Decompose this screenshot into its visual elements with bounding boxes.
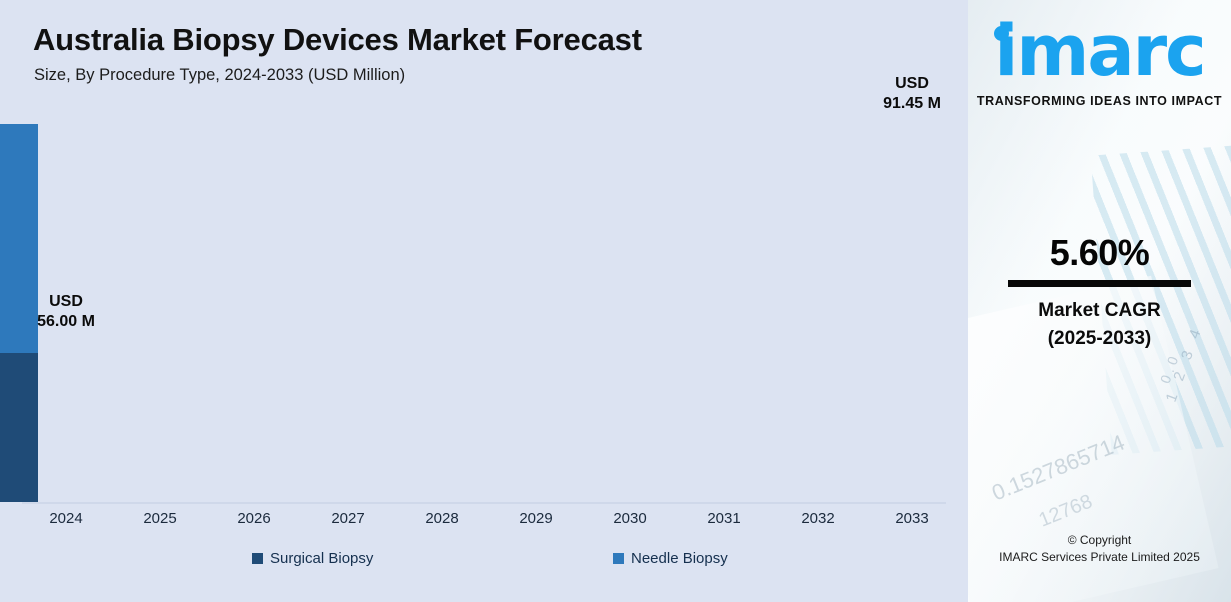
x-tick-2028: 2028 xyxy=(395,510,489,527)
bar-value-label-amount-2033: 91.45 M xyxy=(852,94,972,114)
chart-panel: Australia Biopsy Devices Market Forecast… xyxy=(0,0,968,602)
x-tick-2026: 2026 xyxy=(207,510,301,527)
brand-panel: 0.1527865714 12768 1 2 3 4 0.0 imarc TRA… xyxy=(968,0,1231,602)
cagr-divider xyxy=(1008,280,1191,287)
x-tick-2024: 2024 xyxy=(19,510,113,527)
cagr-period: (2025-2033) xyxy=(968,328,1231,350)
x-tick-2032: 2032 xyxy=(771,510,865,527)
bar-value-label-2033: USD91.45 M xyxy=(852,74,972,114)
imarc-logo[interactable]: imarc TRANSFORMING IDEAS INTO IMPACT xyxy=(968,12,1231,112)
x-tick-2025: 2025 xyxy=(113,510,207,527)
copyright-line-1: © Copyright xyxy=(968,533,1231,547)
x-axis-line xyxy=(22,502,946,504)
plot-area: USD56.00 MUSD91.45 M 2024202520262027202… xyxy=(0,0,968,602)
chart-legend: Surgical Biopsy Needle Biopsy xyxy=(0,550,968,576)
x-tick-2033: 2033 xyxy=(865,510,959,527)
legend-label-surgical-biopsy: Surgical Biopsy xyxy=(270,550,373,567)
cagr-label: Market CAGR xyxy=(968,300,1231,322)
x-tick-2029: 2029 xyxy=(489,510,583,527)
x-tick-2027: 2027 xyxy=(301,510,395,527)
legend-item-surgical-biopsy[interactable]: Surgical Biopsy xyxy=(252,550,373,567)
legend-label-needle-biopsy: Needle Biopsy xyxy=(631,550,728,567)
legend-item-needle-biopsy[interactable]: Needle Biopsy xyxy=(613,550,728,567)
legend-swatch-surgical-biopsy xyxy=(252,553,263,564)
imarc-tagline: TRANSFORMING IDEAS INTO IMPACT xyxy=(968,94,1231,108)
imarc-wordmark: imarc xyxy=(968,12,1231,90)
bar-segment-surgical-biopsy-2033[interactable] xyxy=(0,353,38,502)
bar-value-label-2024: USD56.00 M xyxy=(6,292,126,332)
bar-value-label-currency-2033: USD xyxy=(852,74,972,94)
x-tick-2030: 2030 xyxy=(583,510,677,527)
bar-value-label-currency-2024: USD xyxy=(6,292,126,312)
x-tick-2031: 2031 xyxy=(677,510,771,527)
bar-value-label-amount-2024: 56.00 M xyxy=(6,312,126,332)
chart-infographic: Australia Biopsy Devices Market Forecast… xyxy=(0,0,1231,602)
copyright-line-2: IMARC Services Private Limited 2025 xyxy=(968,550,1231,564)
imarc-logo-dot-icon xyxy=(994,26,1009,41)
cagr-value: 5.60% xyxy=(968,232,1231,274)
legend-swatch-needle-biopsy xyxy=(613,553,624,564)
